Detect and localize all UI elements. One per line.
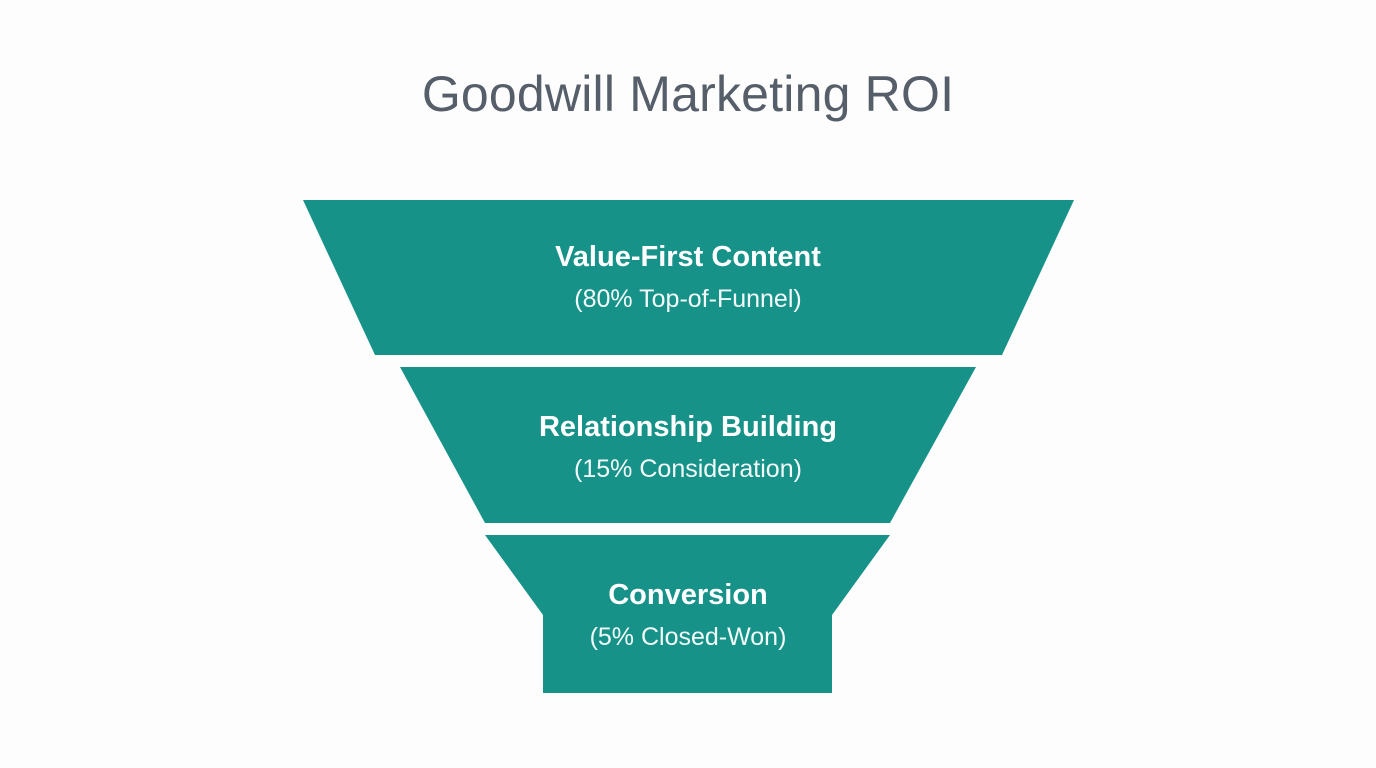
funnel-shape-group — [0, 0, 1376, 768]
funnel-segment-relationship-building[interactable] — [400, 367, 976, 523]
funnel-segment-value-first-content[interactable] — [303, 200, 1074, 355]
funnel-segment-conversion[interactable] — [485, 535, 890, 693]
funnel-chart-canvas: Goodwill Marketing ROI Value-First Conte… — [0, 0, 1376, 768]
